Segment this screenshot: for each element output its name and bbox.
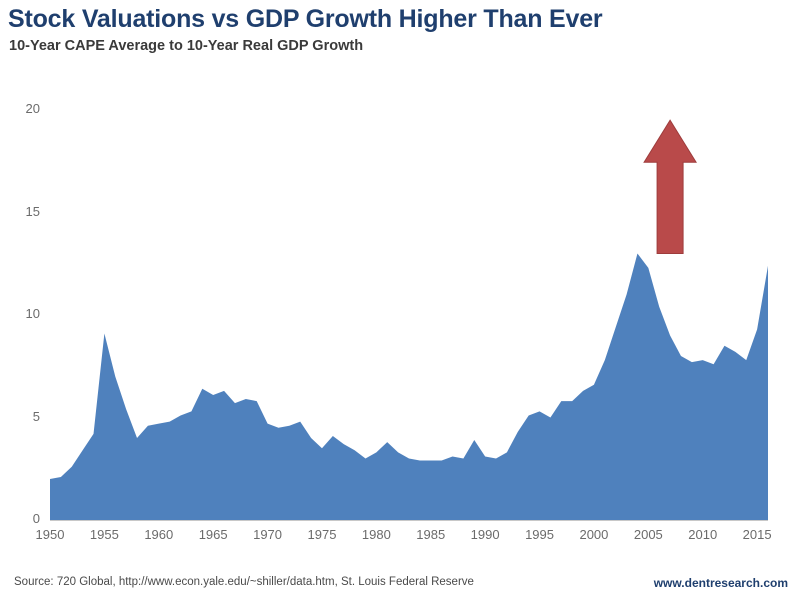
x-axis-tick-label: 2010 (677, 527, 729, 542)
x-axis-tick-label: 1980 (350, 527, 402, 542)
x-axis-tick-label: 1995 (514, 527, 566, 542)
chart-canvas (0, 0, 800, 598)
x-axis-tick-label: 1965 (187, 527, 239, 542)
x-axis-tick-label: 1955 (78, 527, 130, 542)
x-axis-tick-label: 2005 (622, 527, 674, 542)
y-axis-tick-label: 5 (8, 409, 40, 424)
area-chart (0, 0, 800, 598)
source-note: Source: 720 Global, http://www.econ.yale… (14, 576, 474, 588)
y-axis-tick-label: 15 (8, 204, 40, 219)
y-axis-tick-label: 10 (8, 306, 40, 321)
up-arrow-annotation (644, 120, 696, 253)
x-axis-tick-label: 1960 (133, 527, 185, 542)
x-axis-tick-label: 2015 (731, 527, 783, 542)
x-axis-tick-label: 1975 (296, 527, 348, 542)
website-link[interactable]: www.dentresearch.com (654, 576, 788, 590)
y-axis-tick-label: 20 (8, 101, 40, 116)
x-axis-tick-label: 1985 (405, 527, 457, 542)
x-axis-tick-label: 2000 (568, 527, 620, 542)
x-axis-tick-label: 1950 (24, 527, 76, 542)
y-axis-tick-label: 0 (8, 511, 40, 526)
up-arrow-icon (644, 120, 696, 253)
x-axis-tick-label: 1970 (242, 527, 294, 542)
series-area (50, 254, 768, 521)
x-axis-tick-label: 1990 (459, 527, 511, 542)
chart-page: Stock Valuations vs GDP Growth Higher Th… (0, 0, 800, 598)
